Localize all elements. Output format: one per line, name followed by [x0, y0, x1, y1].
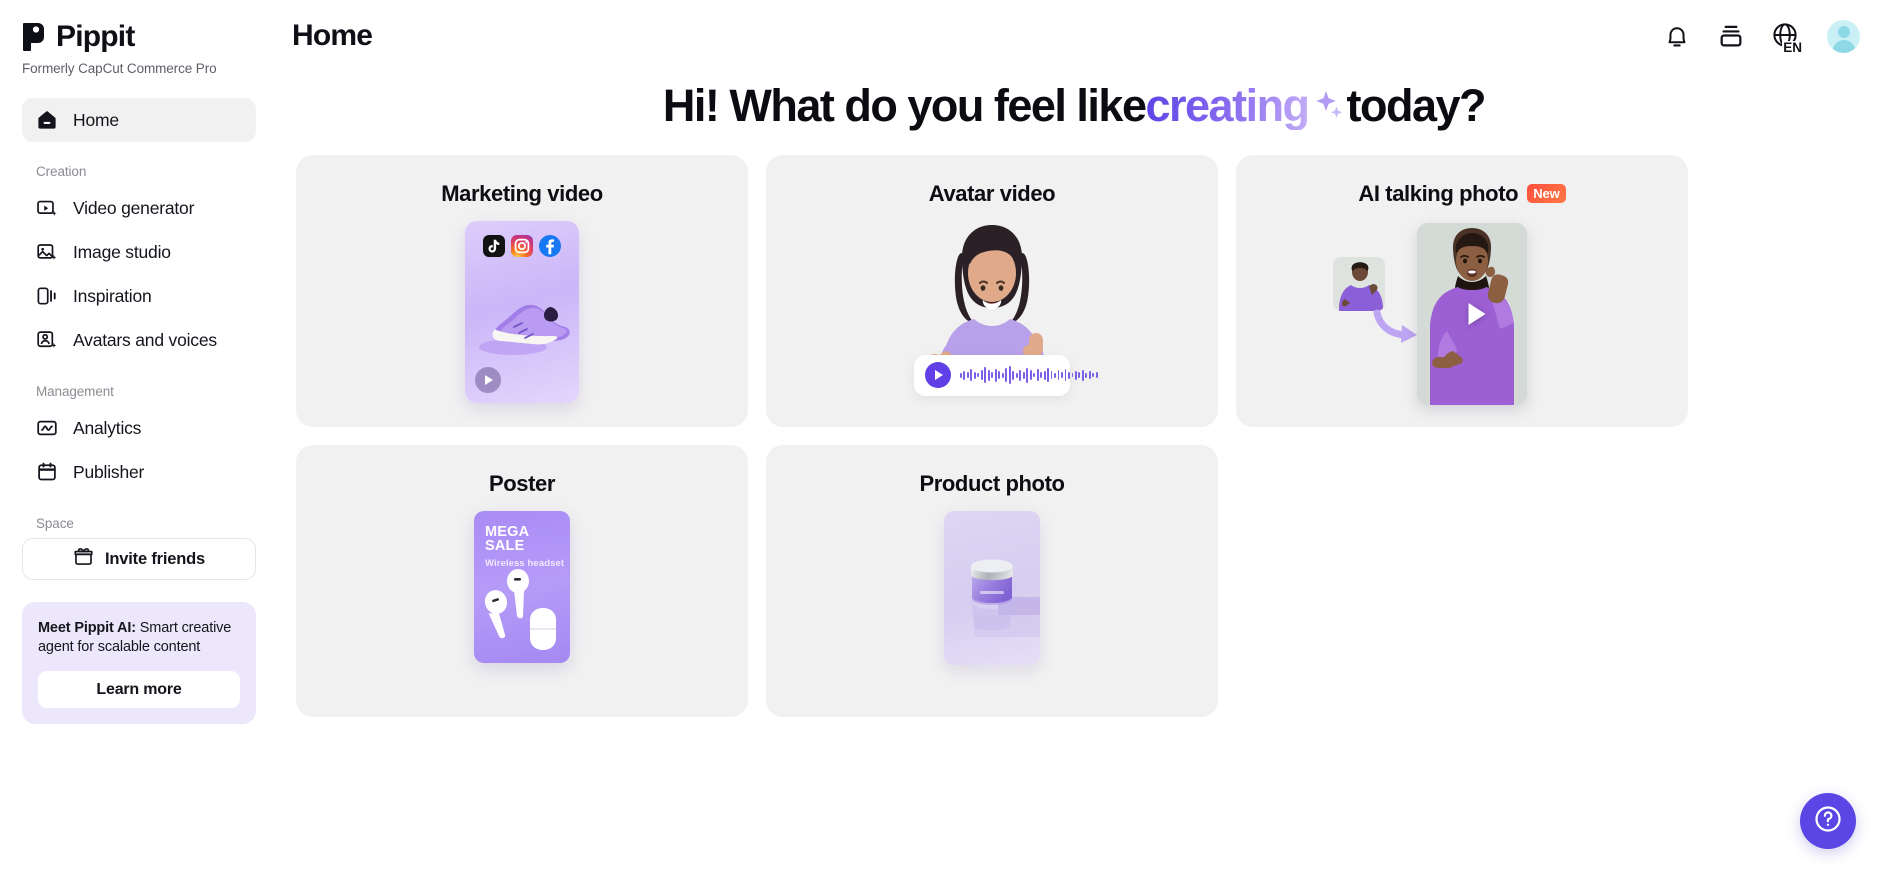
- cosmetic-jar-image: [944, 511, 1040, 665]
- brand-block: Pippit Formerly CapCut Commerce Pro: [22, 0, 256, 76]
- card-poster[interactable]: Poster MEGA SALE Wireless headset: [296, 445, 748, 717]
- sidebar-item-analytics[interactable]: Analytics: [22, 406, 256, 450]
- learn-more-button[interactable]: Learn more: [38, 671, 240, 708]
- poster-headline: MEGA SALE: [474, 525, 570, 554]
- video-generator-icon: [36, 197, 58, 219]
- play-icon[interactable]: [925, 362, 951, 388]
- sidebar-item-avatars-and-voices[interactable]: Avatars and voices: [22, 318, 256, 362]
- topbar: Home: [278, 0, 1900, 72]
- sidebar-group-creation-title: Creation: [22, 164, 256, 179]
- globe-language-icon[interactable]: EN: [1771, 21, 1801, 51]
- play-icon[interactable]: [1469, 303, 1486, 325]
- sidebar-item-home[interactable]: Home: [22, 98, 256, 142]
- sidebar-nav: Home Creation Video generator: [22, 98, 256, 724]
- marketing-video-art: [296, 221, 748, 427]
- app-root: Pippit Formerly CapCut Commerce Pro Home…: [0, 0, 1900, 889]
- sidebar-item-publisher[interactable]: Publisher: [22, 450, 256, 494]
- poster-mockup: MEGA SALE Wireless headset: [474, 511, 570, 663]
- promo-text: Meet Pippit AI: Smart creative agent for…: [38, 619, 240, 657]
- invite-friends-button[interactable]: Invite friends: [22, 538, 256, 580]
- phone-mockup: [465, 221, 579, 403]
- layers-stack-icon[interactable]: [1717, 22, 1745, 50]
- brand-row[interactable]: Pippit: [22, 22, 256, 52]
- hero-suffix: today?: [1347, 81, 1486, 131]
- instagram-icon: [511, 235, 533, 257]
- card-title-text: Poster: [489, 473, 555, 495]
- gift-icon: [73, 546, 94, 572]
- help-question-icon: [1813, 804, 1843, 839]
- card-title: Marketing video: [441, 183, 602, 205]
- sidebar-item-label: Analytics: [73, 418, 141, 439]
- sidebar-group-space-title: Space: [22, 516, 256, 531]
- sidebar-item-label: Home: [73, 110, 119, 131]
- analytics-icon: [36, 417, 58, 439]
- card-marketing-video[interactable]: Marketing video: [296, 155, 748, 427]
- sidebar-item-label: Video generator: [73, 198, 194, 219]
- brand-tagline: Formerly CapCut Commerce Pro: [22, 61, 256, 76]
- earbuds-product-image: [474, 558, 570, 663]
- promo-title-bold: Meet Pippit AI:: [38, 620, 136, 636]
- help-button[interactable]: [1800, 793, 1856, 849]
- inspiration-icon: [36, 285, 58, 307]
- language-code: EN: [1782, 41, 1803, 55]
- card-title-text: Avatar video: [929, 183, 1055, 205]
- poster-art: MEGA SALE Wireless headset: [296, 511, 748, 717]
- audio-waveform-icon: [960, 364, 1098, 386]
- audio-player-bar[interactable]: [914, 355, 1070, 396]
- topbar-actions: EN: [1663, 20, 1860, 53]
- card-title: Product photo: [919, 473, 1064, 495]
- promo-card: Meet Pippit AI: Smart creative agent for…: [22, 602, 256, 724]
- card-title: Avatar video: [929, 183, 1055, 205]
- hero-accent-word: creating: [1145, 81, 1308, 131]
- facebook-icon: [539, 235, 561, 257]
- publisher-icon: [36, 461, 58, 483]
- ai-talking-photo-art: [1236, 221, 1688, 427]
- hero-heading: Hi! What do you feel like creating today…: [278, 80, 1900, 131]
- image-studio-icon: [36, 241, 58, 263]
- card-title-text: Product photo: [919, 473, 1064, 495]
- creation-cards-grid: Marketing video: [296, 155, 1696, 717]
- sidebar-group-management-title: Management: [22, 384, 256, 399]
- card-product-photo[interactable]: Product photo: [766, 445, 1218, 717]
- card-ai-talking-photo[interactable]: AI talking photo New: [1236, 155, 1688, 427]
- product-photo-art: [766, 511, 1218, 717]
- generated-talking-video: [1417, 223, 1527, 405]
- card-title-text: Marketing video: [441, 183, 602, 205]
- status-badge-new: New: [1527, 184, 1565, 203]
- hero-prefix: Hi! What do you feel like: [663, 81, 1146, 131]
- sidebar: Pippit Formerly CapCut Commerce Pro Home…: [0, 0, 278, 889]
- sparkle-icon: [1309, 80, 1347, 131]
- card-avatar-video[interactable]: Avatar video: [766, 155, 1218, 427]
- user-avatar[interactable]: [1827, 20, 1860, 53]
- play-icon[interactable]: [475, 367, 501, 393]
- tiktok-icon: [483, 235, 505, 257]
- avatar-video-art: [766, 221, 1218, 427]
- home-icon: [36, 109, 58, 131]
- card-title: AI talking photo New: [1358, 183, 1565, 205]
- page-title: Home: [292, 19, 372, 53]
- notification-bell-icon[interactable]: [1663, 22, 1691, 50]
- sidebar-item-video-generator[interactable]: Video generator: [22, 186, 256, 230]
- sidebar-item-inspiration[interactable]: Inspiration: [22, 274, 256, 318]
- card-title-text: AI talking photo: [1358, 183, 1518, 205]
- source-photo-thumbnail: [1333, 257, 1385, 311]
- brand-name: Pippit: [56, 22, 135, 52]
- sidebar-item-label: Image studio: [73, 242, 171, 263]
- pippit-logo-icon: [22, 22, 47, 52]
- avatars-voices-icon: [36, 329, 58, 351]
- sidebar-item-label: Publisher: [73, 462, 144, 483]
- main-content: Home: [278, 0, 1900, 889]
- product-mockup: [944, 511, 1040, 665]
- card-title: Poster: [489, 473, 555, 495]
- sneaker-product-image: [473, 289, 571, 363]
- invite-friends-label: Invite friends: [105, 550, 205, 569]
- sidebar-item-label: Inspiration: [73, 286, 152, 307]
- sidebar-item-label: Avatars and voices: [73, 330, 217, 351]
- social-icons-row: [483, 235, 561, 257]
- sidebar-item-image-studio[interactable]: Image studio: [22, 230, 256, 274]
